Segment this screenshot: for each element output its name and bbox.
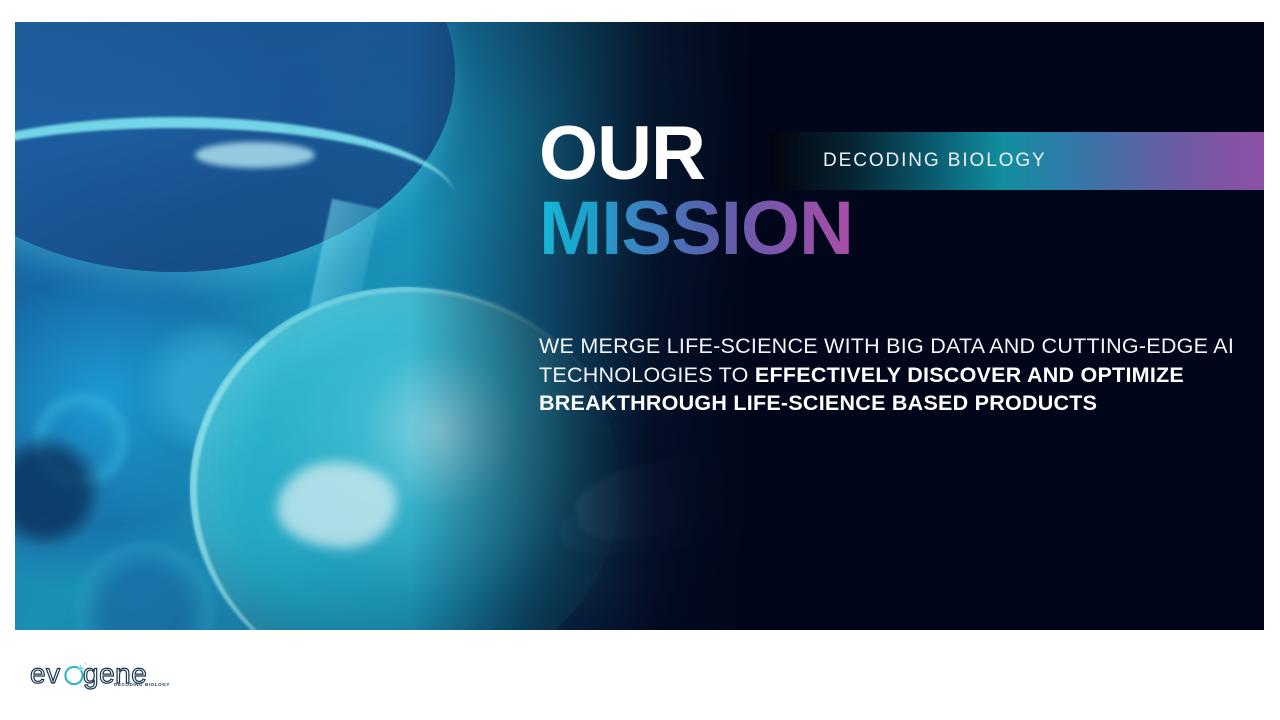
page-title-line-mission: MISSION [539,191,853,267]
slide-footer: ev gene DECODING BIOLOGY 10 [0,630,1280,720]
page-title-line-our: OUR [539,117,1259,191]
mission-statement-text: WE MERGE LIFE-SCIENCE WITH BIG DATA AND … [539,332,1245,418]
logo-tagline: DECODING BIOLOGY [114,682,170,687]
presentation-slide: DECODING BIOLOGY OUR MISSION WE MERGE LI… [0,0,1280,720]
svg-text:ev: ev [30,658,61,689]
slide-body: DECODING BIOLOGY OUR MISSION WE MERGE LI… [15,22,1264,630]
page-title: OUR MISSION [539,117,1259,267]
evogene-logo-svg: ev gene [30,658,146,694]
evogene-logo[interactable]: ev gene DECODING BIOLOGY [30,658,146,694]
